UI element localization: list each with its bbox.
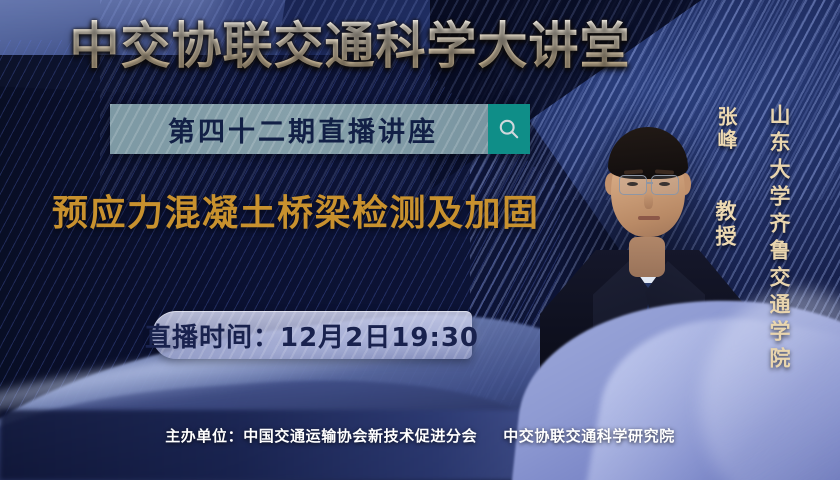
footer-organizer-1: 主办单位：中国交通运输协会新技术促进分会 — [165, 427, 477, 445]
speaker-name: 张峰 — [712, 106, 741, 152]
portrait-eyeglass-bridge — [646, 182, 653, 184]
lecture-topic: 预应力混凝土桥梁检测及加固 — [52, 192, 572, 236]
portrait-nose — [644, 193, 653, 209]
portrait-eyeglass-right — [651, 175, 679, 195]
search-button[interactable] — [488, 104, 530, 154]
webinar-poster: 中交协联交通科学大讲堂 第四十二期直播讲座 预应力混凝土桥梁检测及加固 直播时间… — [0, 0, 840, 480]
portrait-mouth — [638, 216, 660, 220]
episode-bar: 第四十二期直播讲座 — [110, 104, 530, 154]
portrait-eyeglass-left — [619, 175, 647, 195]
footer: 主办单位：中国交通运输协会新技术促进分会中交协联交通科学研究院 — [0, 425, 840, 446]
episode-label: 第四十二期直播讲座 — [110, 104, 488, 154]
speaker-title: 教授 — [710, 200, 740, 250]
page-title: 中交协联交通科学大讲堂 — [0, 18, 700, 74]
live-time-badge: 直播时间：12月2日19:30 — [152, 311, 472, 359]
portrait-neck — [629, 237, 665, 277]
footer-organizer-2: 中交协联交通科学研究院 — [503, 427, 675, 445]
speaker-organization: 山东大学齐鲁交通学院 — [764, 104, 794, 374]
search-icon — [497, 117, 521, 141]
